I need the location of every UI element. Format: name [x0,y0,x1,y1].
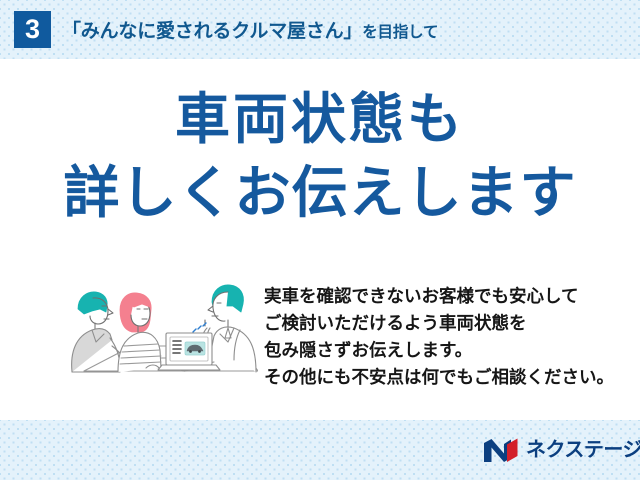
advertisement-panel: 3 「みんなに愛されるクルマ屋さん」を目指して 車両状態も 詳しくお伝えします [0,0,640,480]
consultation-illustration-svg [62,276,258,398]
consultation-illustration [62,276,258,398]
header: 3 「みんなに愛されるクルマ屋さん」を目指して [0,0,640,59]
body-copy-line-1: 実車を確認できないお客様でも安心して [264,283,620,310]
body-copy: 実車を確認できないお客様でも安心して ご検討いただけるよう車両状態を 包み隠さず… [264,283,620,391]
header-title: 「みんなに愛されるクルマ屋さん」を目指して [62,16,438,43]
nextage-n-mark-icon [483,438,519,463]
headline-line-1: 車両状態も [0,92,640,147]
body-copy-line-2: ご検討いただけるよう車両状態を [264,310,620,337]
headline: 車両状態も 詳しくお伝えします [0,92,640,221]
header-title-tail: を目指して [362,24,438,41]
body-copy-line-3: 包み隠さずお伝えします。 [264,337,620,364]
brand-wordmark: ネクステージ [526,440,640,460]
brand-logo: ネクステージ [483,437,640,463]
body-copy-line-4: その他にも不安点は何でもご相談ください。 [264,364,620,391]
header-title-main: 「みんなに愛されるクルマ屋さん」 [62,21,362,42]
headline-line-2: 詳しくお伝えします [0,165,640,221]
step-number-badge: 3 [14,11,51,48]
